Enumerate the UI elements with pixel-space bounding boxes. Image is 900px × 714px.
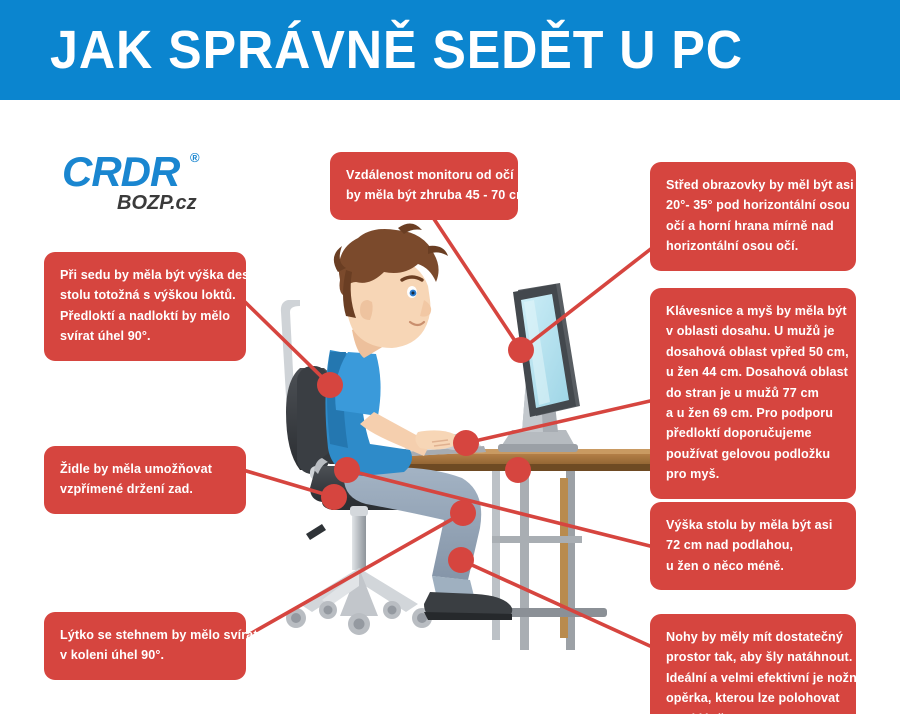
callout-line: Výška stolu by měla být asi <box>666 515 840 535</box>
callout-calf-thigh-angle[interactable]: Lýtko se stehnem by mělo svírat v koleni… <box>44 612 246 680</box>
connector-knee-angle <box>243 513 463 638</box>
callout-line: používat gelovou podložku <box>666 444 840 464</box>
callout-line: stolu totožná s výškou loktů. <box>60 285 230 305</box>
callout-line: Lýtko se stehnem by mělo svírat <box>60 625 230 645</box>
connector-keyboard-reach <box>466 401 650 443</box>
callout-line: u žen o něco méně. <box>666 556 840 576</box>
anchor-dot-lower-back <box>321 484 347 510</box>
callout-line: Ideální a velmi efektivní je nožní <box>666 668 840 688</box>
anchor-dots <box>317 337 534 573</box>
anchor-dot-seat <box>334 457 360 483</box>
callout-line: prostor tak, aby šly natáhnout. <box>666 647 840 667</box>
page-title: JAK SPRÁVNĚ SEDĚT U PC <box>50 19 795 81</box>
connector-legroom <box>461 560 650 646</box>
anchor-dot-knee <box>450 500 476 526</box>
callout-desk-height-elbows[interactable]: Při sedu by měla být výška desky stolu t… <box>44 252 246 361</box>
callout-monitor-distance[interactable]: Vzdálenost monitoru od očí by měla být z… <box>330 152 518 220</box>
callout-line: horizontální osou očí. <box>666 236 840 256</box>
header-bar: JAK SPRÁVNĚ SEDĚT U PC <box>0 0 900 100</box>
callout-line: v oblasti dosahu. U mužů je <box>666 321 840 341</box>
anchor-dot-desk-leg <box>505 457 531 483</box>
callout-line: opěrka, kterou lze polohovat <box>666 688 840 708</box>
logo-wordmark: CRDR <box>62 148 179 196</box>
callout-line: očí a horní hrana mírně nad <box>666 216 840 236</box>
callout-line: by měla být zhruba 45 - 70 cm. <box>346 185 502 205</box>
desk <box>400 449 680 650</box>
callout-line: dosahová oblast vpřed 50 cm, <box>666 342 840 362</box>
callout-leg-space-footrest[interactable]: Nohy by měly mít dostatečný prostor tak,… <box>650 614 856 714</box>
callout-line: a naklánět. <box>666 709 840 714</box>
crdr-bozp-logo: CRDR ® BOZP.cz <box>62 148 232 220</box>
logo-subtitle: BOZP.cz <box>117 192 197 215</box>
callout-line: do stran je u mužů 77 cm <box>666 383 840 403</box>
callout-screen-center-angle[interactable]: Střed obrazovky by měl být asi 20°- 35° … <box>650 162 856 271</box>
callout-line: v koleni úhel 90°. <box>60 645 230 665</box>
connector-chair-back <box>243 470 334 497</box>
anchor-dot-screen-center <box>508 337 534 363</box>
callout-chair-upright-back[interactable]: Židle by měla umožňovat vzpřímené držení… <box>44 446 246 514</box>
callout-line: Židle by měla umožňovat <box>60 459 230 479</box>
boy-figure <box>325 223 512 620</box>
page-title-text: JAK SPRÁVNĚ SEDĚT U PC <box>50 19 743 81</box>
office-chair <box>281 300 432 635</box>
callout-line: 72 cm nad podlahou, <box>666 535 840 555</box>
callout-line: 20°- 35° pod horizontální osou <box>666 195 840 215</box>
connector-desk-height <box>243 300 330 385</box>
callout-line: a u žen 69 cm. Pro podporu <box>666 403 840 423</box>
monitor <box>498 283 580 452</box>
callout-line: Klávesnice a myš by měla být <box>666 301 840 321</box>
connector-table-height <box>347 470 650 546</box>
callout-line: Střed obrazovky by měl být asi <box>666 175 840 195</box>
callout-line: vzpřímené držení zad. <box>60 479 230 499</box>
callout-keyboard-mouse-reach[interactable]: Klávesnice a myš by měla být v oblasti d… <box>650 288 856 499</box>
anchor-dot-ankle <box>448 547 474 573</box>
callout-line: svírat úhel 90°. <box>60 326 230 346</box>
anchor-dot-mouse <box>453 430 479 456</box>
anchor-dot-shoulder <box>317 372 343 398</box>
callout-line: pro myš. <box>666 464 840 484</box>
callout-line: předloktí doporučujeme <box>666 423 840 443</box>
callout-table-height[interactable]: Výška stolu by měla být asi 72 cm nad po… <box>650 502 856 590</box>
callout-line: Při sedu by měla být výška desky <box>60 265 230 285</box>
connector-monitor-distance <box>432 216 521 350</box>
callout-line: Předloktí a nadloktí by mělo <box>60 306 230 326</box>
callout-line: Vzdálenost monitoru od očí <box>346 165 502 185</box>
connector-screen-center <box>521 248 652 350</box>
infographic-page: JAK SPRÁVNĚ SEDĚT U PC CRDR ® BOZP.cz <box>0 0 900 714</box>
registered-trademark-icon: ® <box>190 150 200 165</box>
callout-line: u žen 44 cm. Dosahová oblast <box>666 362 840 382</box>
callout-line: Nohy by měly mít dostatečný <box>666 627 840 647</box>
keyboard-and-mouse <box>404 434 486 456</box>
